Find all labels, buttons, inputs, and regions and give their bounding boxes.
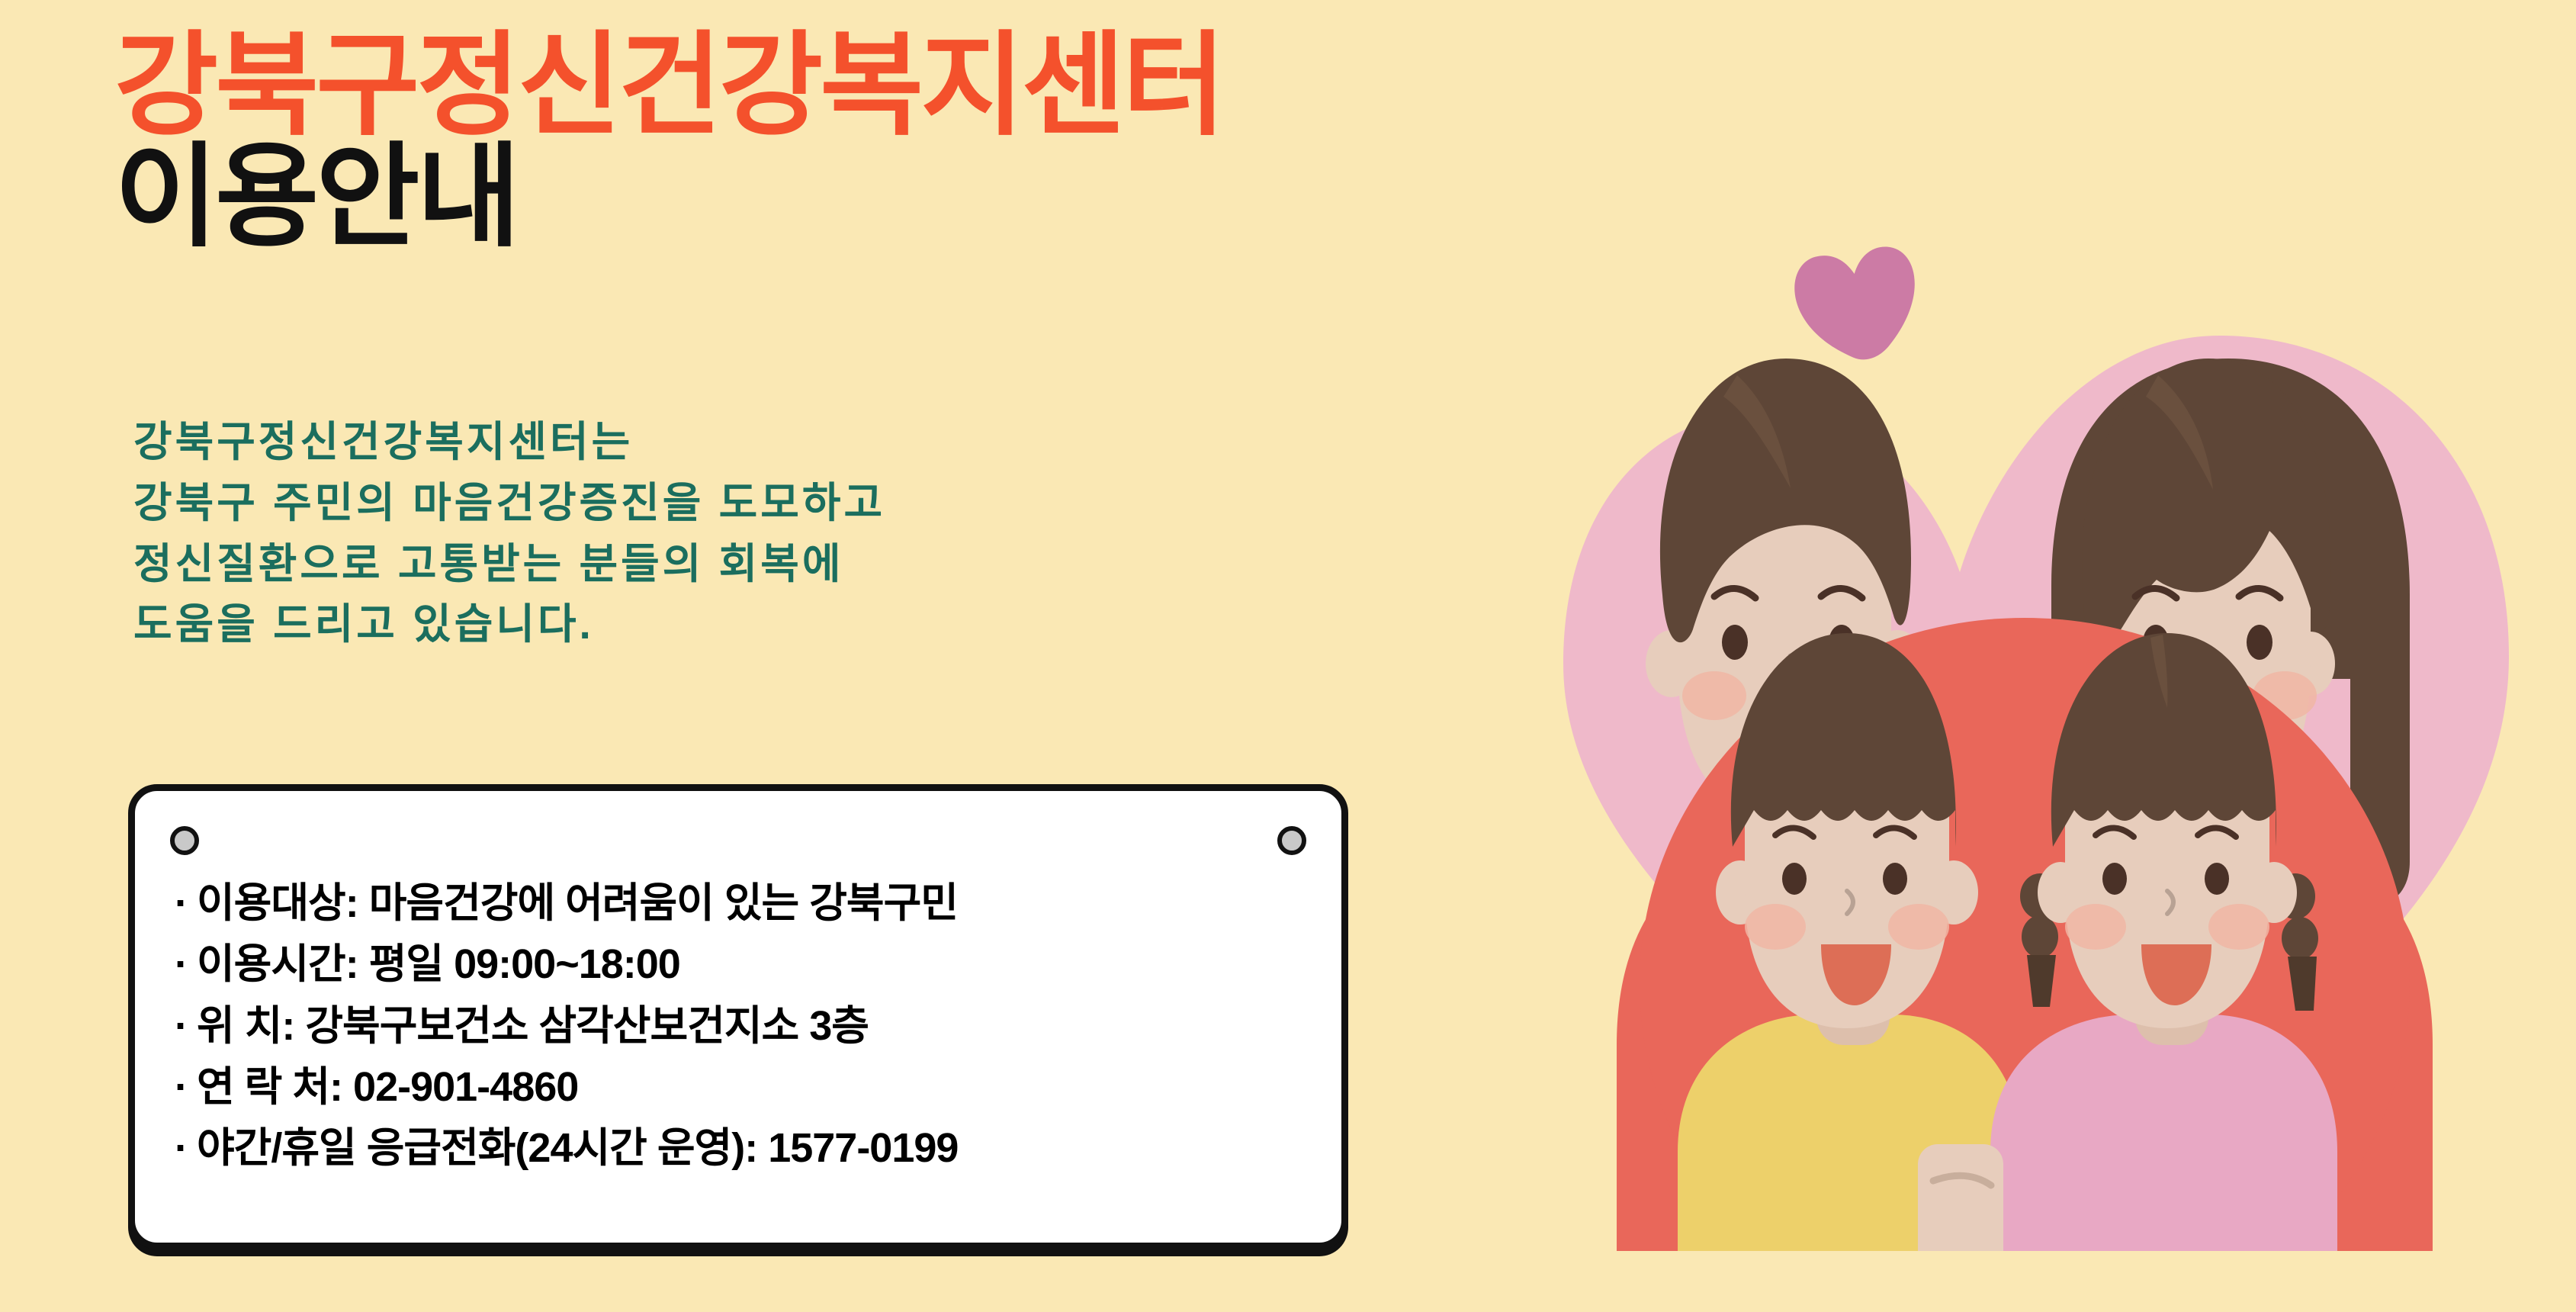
info-value: 1577-0199 <box>768 1125 958 1171</box>
info-plaque: ·이용대상: 마음건강에 어려움이 있는 강북구민 ·이용시간: 평일 09:0… <box>128 784 1348 1249</box>
page-title: 강북구정신건강복지센터 이용안내 <box>114 32 1223 252</box>
screw-hole-icon <box>1277 826 1306 855</box>
info-label: 이용대상 <box>197 880 345 926</box>
intro-paragraph: 강북구정신건강복지센터는 강북구 주민의 마음건강증진을 도모하고 정신질환으로… <box>133 412 885 655</box>
intro-line: 정신질환으로 고통받는 분들의 회복에 <box>133 534 885 595</box>
poster-canvas: 강북구정신건강복지센터 이용안내 강북구정신건강복지센터는 강북구 주민의 마음… <box>0 0 2576 1312</box>
info-value: 02-901-4860 <box>353 1064 578 1110</box>
intro-line: 도움을 드리고 있습니다. <box>133 594 885 655</box>
screw-hole-icon <box>170 826 199 855</box>
info-label: 연 락 처 <box>197 1064 329 1110</box>
intro-line: 강북구정신건강복지센터는 <box>133 412 885 473</box>
list-item: ·이용대상: 마음건강에 어려움이 있는 강북구민 <box>175 881 1319 925</box>
bullet-icon: · <box>175 1125 188 1171</box>
list-item: ·이용시간: 평일 09:00~18:00 <box>175 942 1319 986</box>
list-item: ·연 락 처: 02-901-4860 <box>175 1065 1319 1109</box>
bullet-icon: · <box>175 880 188 926</box>
info-value: 강북구보건소 삼각산보건지소 3층 <box>305 1003 869 1049</box>
family-hugging-heart-illustration <box>1533 130 2576 1312</box>
small-heart-icon <box>1787 235 1931 373</box>
list-item: ·야간/휴일 응급전화(24시간 운영): 1577-0199 <box>175 1126 1319 1170</box>
info-list: ·이용대상: 마음건강에 어려움이 있는 강북구민 ·이용시간: 평일 09:0… <box>175 881 1319 1171</box>
title-line-subject: 이용안내 <box>114 143 1223 252</box>
info-label: 야간/휴일 응급전화(24시간 운영) <box>197 1125 744 1171</box>
info-value: 평일 09:00~18:00 <box>369 941 680 987</box>
bullet-icon: · <box>175 1003 188 1049</box>
bullet-icon: · <box>175 1064 188 1110</box>
list-item: ·위 치: 강북구보건소 삼각산보건지소 3층 <box>175 1004 1319 1048</box>
info-label: 위 치 <box>197 1003 281 1049</box>
intro-line: 강북구 주민의 마음건강증진을 도모하고 <box>133 473 885 534</box>
info-label: 이용시간 <box>197 941 345 987</box>
bullet-icon: · <box>175 941 188 987</box>
info-value: 마음건강에 어려움이 있는 강북구민 <box>369 880 958 926</box>
title-line-center-name: 강북구정신건강복지센터 <box>114 32 1223 140</box>
